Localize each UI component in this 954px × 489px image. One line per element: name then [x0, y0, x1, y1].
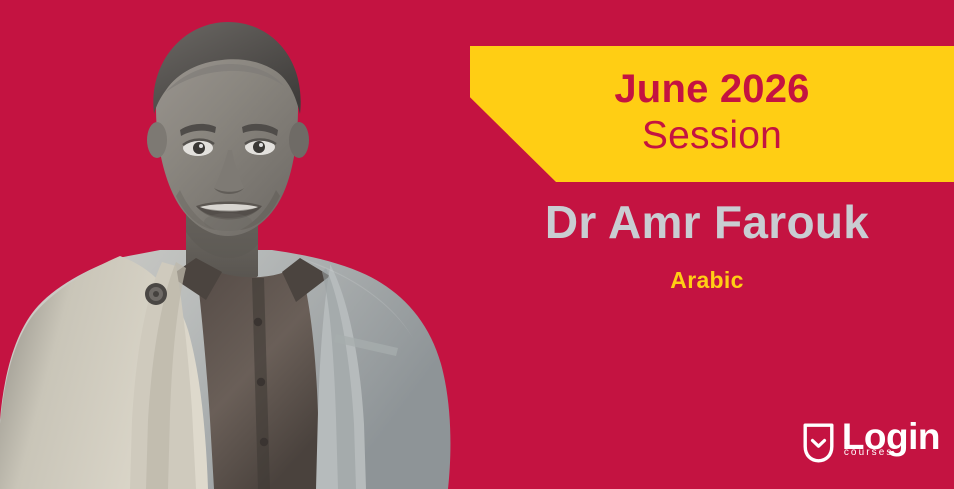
- login-courses-logo[interactable]: Login courses: [802, 419, 940, 471]
- speaker-name: Dr Amr Farouk: [460, 196, 954, 249]
- speaker-block: Dr Amr Farouk Arabic: [460, 196, 954, 294]
- logo-wordmark: Login courses: [842, 419, 940, 454]
- shield-chevron-icon: [802, 422, 835, 464]
- session-month: June 2026: [614, 68, 809, 110]
- speaker-portrait: [0, 0, 470, 489]
- logo-tagline: courses: [844, 448, 894, 458]
- speaker-subject: Arabic: [460, 267, 954, 295]
- session-label: Session: [642, 113, 782, 160]
- session-announcement-banner: June 2026 Session Dr Amr Farouk Arabic: [0, 0, 954, 489]
- ribbon-text-group: June 2026 Session: [470, 46, 954, 182]
